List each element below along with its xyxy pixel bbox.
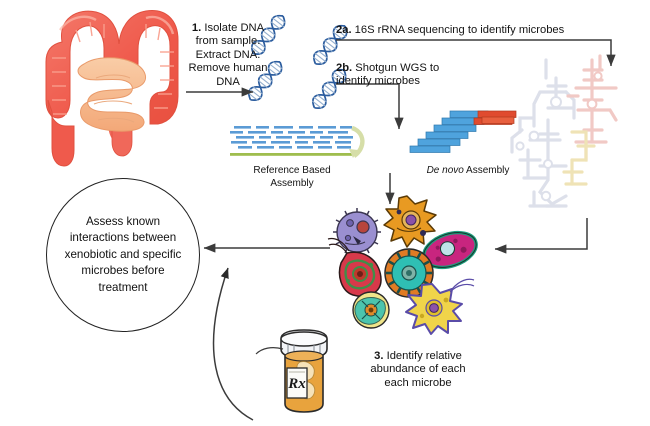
step-2a-text: 16S rRNA sequencing to identify microbes bbox=[352, 24, 565, 36]
assessment-circle: Assess known interactions between xenobi… bbox=[46, 178, 200, 332]
de-novo-assembly-contigs bbox=[410, 111, 516, 153]
arrow-pill-to-circle bbox=[214, 268, 253, 420]
pill-bottle-rx-label: Rx bbox=[287, 376, 306, 392]
reference-assembly-label: Reference Based Assembly bbox=[236, 165, 348, 190]
step-2b-text: Shotgun WGS to identify microbes bbox=[336, 62, 439, 88]
step-2a-number: 2a. bbox=[336, 24, 352, 36]
arrow-step2b bbox=[336, 84, 399, 129]
denovo-rest-text: Assembly bbox=[464, 165, 510, 176]
step-3-text: Identify relative abundance of each each… bbox=[370, 350, 465, 389]
prescription-pill-bottle: Rx bbox=[281, 330, 327, 412]
denovo-assembly-label: De novo Assembly bbox=[408, 165, 528, 178]
step-1-number: 1. bbox=[192, 22, 201, 34]
step-2a-label: 2a. 16S rRNA sequencing to identify micr… bbox=[336, 10, 616, 37]
step-1-label: 1. Isolate DNA from sample. Extract DNA.… bbox=[180, 8, 276, 90]
arrow-rrna-to-microbes bbox=[495, 218, 587, 249]
intestine-illustration bbox=[46, 11, 178, 166]
microbe-cluster-illustration bbox=[328, 196, 485, 334]
step-1-text: Isolate DNA from sample. Extract DNA. Re… bbox=[189, 22, 268, 88]
reference-based-assembly-reads bbox=[230, 126, 362, 158]
step-2b-number: 2b. bbox=[336, 62, 352, 74]
16s-rrna-secondary-structure bbox=[512, 56, 616, 206]
step-3-label: 3. Identify relative abundance of each e… bbox=[350, 336, 486, 390]
denovo-italic-text: De novo bbox=[427, 165, 464, 176]
step-2b-label: 2b. Shotgun WGS to identify microbes bbox=[336, 48, 516, 89]
assessment-circle-text: Assess known interactions between xenobi… bbox=[56, 214, 191, 297]
arrow-bottle-connector bbox=[256, 348, 283, 354]
